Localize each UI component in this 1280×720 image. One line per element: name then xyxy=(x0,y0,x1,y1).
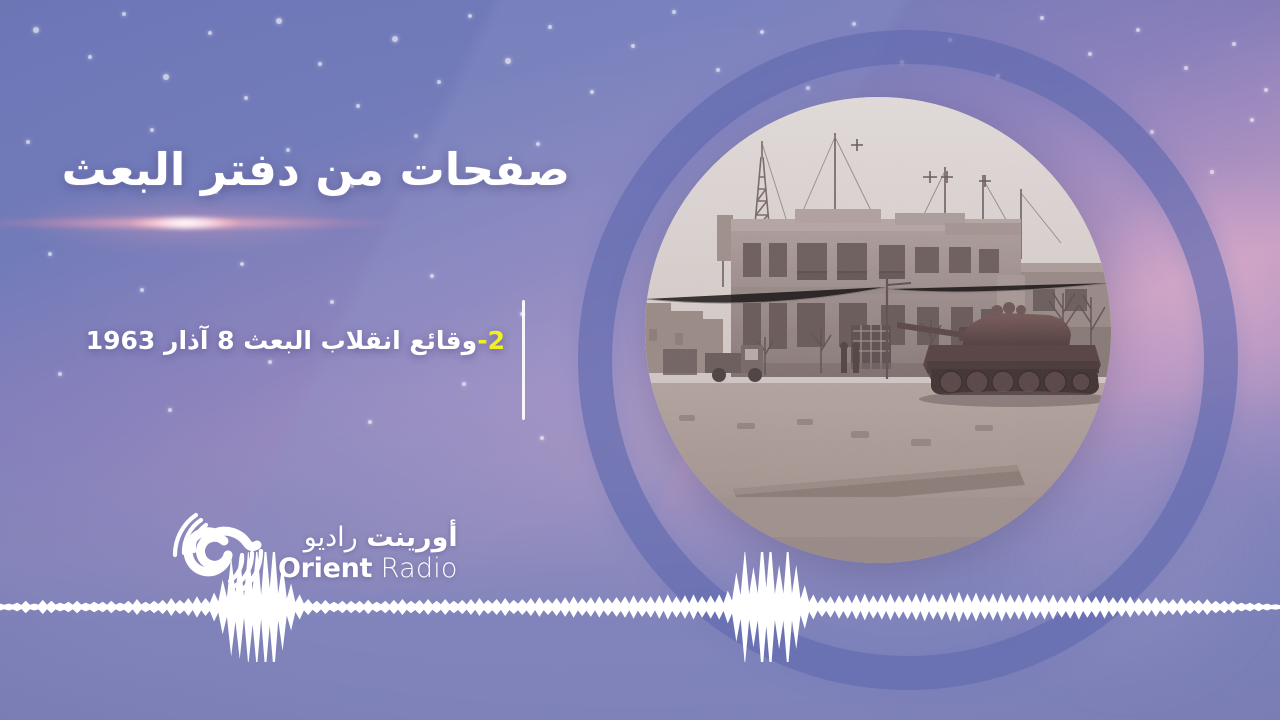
episode-photo xyxy=(645,97,1111,563)
episode-number: 2- xyxy=(477,326,505,355)
waveform-path xyxy=(0,552,1280,662)
title-divider xyxy=(522,300,525,420)
episode-subtitle: 2-وقائع انقلاب البعث 8 آذار 1963 xyxy=(0,326,505,355)
show-title: صفحات من دفتر البعث xyxy=(0,143,570,197)
brand-name-arabic: أورينت راديو xyxy=(304,524,458,551)
brand-name-arabic-light: راديو xyxy=(304,522,358,553)
podcast-cover-screen: صفحات من دفتر البعث 2-وقائع انقلاب البعث… xyxy=(0,0,1280,720)
audio-waveform[interactable] xyxy=(0,552,1280,662)
historic-tank-photo-illustration xyxy=(645,97,1111,563)
show-title-text: صفحات من دفتر البعث xyxy=(62,143,570,197)
episode-title-text: وقائع انقلاب البعث 8 آذار 1963 xyxy=(86,326,477,355)
brand-name-arabic-bold: أورينت xyxy=(366,522,457,553)
